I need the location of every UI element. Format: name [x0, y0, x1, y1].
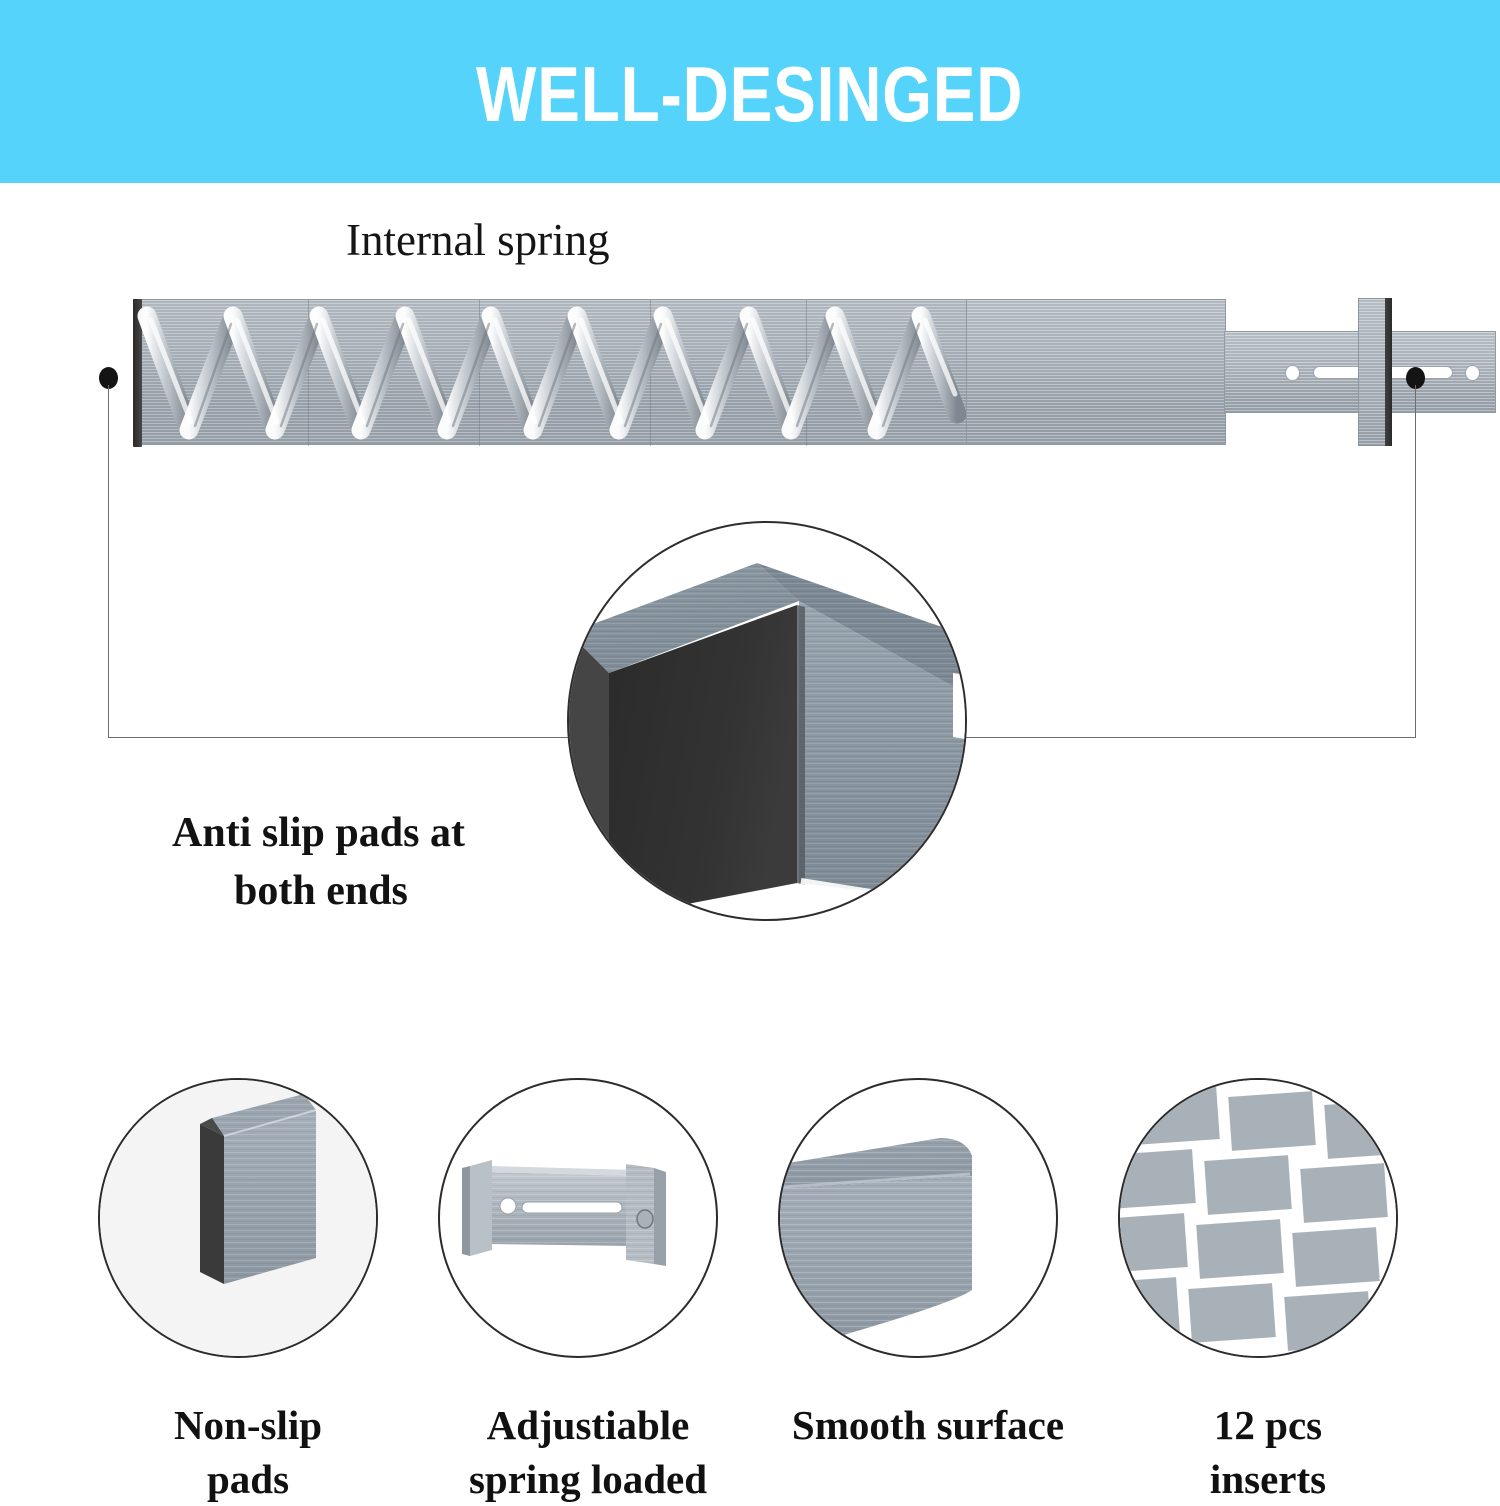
right-anti-slip-pad — [1385, 298, 1392, 446]
internal-spring-label: Internal spring — [346, 214, 610, 266]
adjustable-spring-loaded-icon — [440, 1080, 716, 1356]
product-bar-illustration — [133, 299, 1393, 445]
bracket-line-right — [1415, 385, 1416, 738]
slider-hole-left — [1285, 365, 1300, 381]
internal-spring-coils — [137, 302, 967, 444]
feature-label-smooth-surface: Smooth surface — [778, 1398, 1078, 1452]
feature-twelve-pcs-inserts: 12 pcs inserts — [1118, 1078, 1418, 1506]
header-banner: WELL-DESINGED — [0, 0, 1500, 183]
page-title: WELL-DESINGED — [476, 55, 1023, 133]
non-slip-pads-icon — [100, 1080, 376, 1356]
anti-slip-pads-label: Anti slip pads at both ends — [172, 805, 512, 921]
anti-slip-label-line1: Anti slip pads at — [172, 810, 465, 856]
feature-circle-twelve-pcs-inserts — [1118, 1078, 1398, 1358]
feature-circle-non-slip-pads — [98, 1078, 378, 1358]
feature-adjustable-spring-loaded: Adjustiable spring loaded — [438, 1078, 738, 1506]
feature-circle-adjustable-spring-loaded — [438, 1078, 718, 1358]
bar-main-body — [133, 299, 968, 445]
bracket-line-left — [108, 385, 109, 738]
feature-non-slip-pads: Non-slip pads — [98, 1078, 398, 1506]
feature-circle-smooth-surface — [778, 1078, 1058, 1358]
smooth-surface-icon — [780, 1080, 1056, 1356]
feature-label-non-slip-pads: Non-slip pads — [98, 1398, 398, 1506]
left-anti-slip-pad — [133, 299, 142, 447]
anti-slip-pad-closeup-circle — [567, 521, 967, 921]
right-end-cap — [1358, 298, 1392, 446]
bar-middle-section — [966, 299, 1226, 445]
grid-inserts-icon — [1120, 1080, 1396, 1356]
anti-slip-pad-closeup-graphic — [569, 523, 965, 919]
anti-slip-label-line2: both ends — [172, 863, 512, 921]
feature-label-twelve-pcs-inserts: 12 pcs inserts — [1118, 1398, 1418, 1506]
slider-hole-right — [1465, 365, 1480, 381]
feature-smooth-surface: Smooth surface — [778, 1078, 1078, 1452]
feature-label-adjustable-spring-loaded: Adjustiable spring loaded — [438, 1398, 738, 1506]
